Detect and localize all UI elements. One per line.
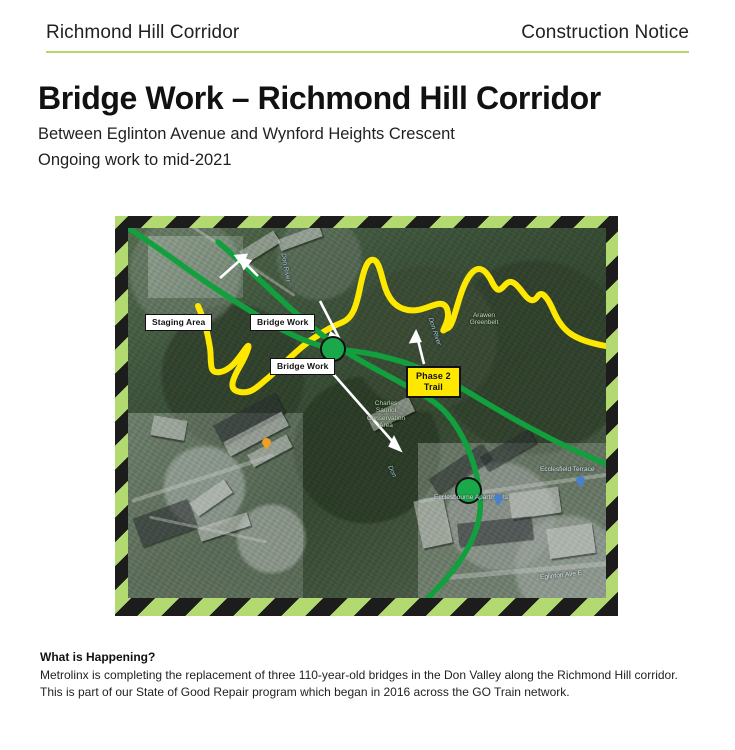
body-paragraph: Metrolinx is completing the replacement … bbox=[40, 667, 690, 701]
callout-bridge-work-upper[interactable]: Bridge Work bbox=[250, 314, 315, 331]
bridge-work-marker-2[interactable] bbox=[455, 477, 482, 504]
title-block: Bridge Work – Richmond Hill Corridor Bet… bbox=[38, 82, 698, 170]
callout-bridge-work-lower[interactable]: Bridge Work bbox=[270, 358, 335, 375]
satellite-map-image: Don River Don River Don Don Arawen Green… bbox=[128, 228, 606, 598]
header-notice-label: Construction Notice bbox=[521, 22, 689, 44]
map-hazard-frame: Don River Don River Don Don Arawen Green… bbox=[115, 216, 618, 616]
header-divider-rule bbox=[46, 51, 689, 53]
rail-corridor-line-green-west bbox=[128, 228, 343, 350]
rail-corridor-line-green bbox=[218, 242, 480, 598]
page-subtitle: Between Eglinton Avenue and Wynford Heig… bbox=[38, 125, 698, 144]
callout-phase-2-trail-line1: Phase 2 bbox=[416, 371, 451, 382]
header-row: Richmond Hill Corridor Construction Noti… bbox=[46, 22, 689, 44]
rail-corridor-line-green-east bbox=[343, 350, 606, 464]
arrowhead-phase2-trail bbox=[411, 332, 420, 342]
page-timeline: Ongoing work to mid-2021 bbox=[38, 151, 698, 170]
map-route-overlay bbox=[128, 228, 606, 598]
callout-phase-2-trail-line2: Trail bbox=[416, 382, 451, 393]
body-heading: What is Happening? bbox=[40, 650, 690, 664]
callout-phase-2-trail[interactable]: Phase 2 Trail bbox=[406, 366, 461, 398]
leader-bridge-work-3 bbox=[328, 368, 400, 450]
callout-staging-area[interactable]: Staging Area bbox=[145, 314, 212, 331]
header-corridor-label: Richmond Hill Corridor bbox=[46, 22, 239, 44]
page-title: Bridge Work – Richmond Hill Corridor bbox=[38, 82, 698, 116]
body-section: What is Happening? Metrolinx is completi… bbox=[40, 650, 690, 701]
page-header: Richmond Hill Corridor Construction Noti… bbox=[46, 22, 689, 53]
